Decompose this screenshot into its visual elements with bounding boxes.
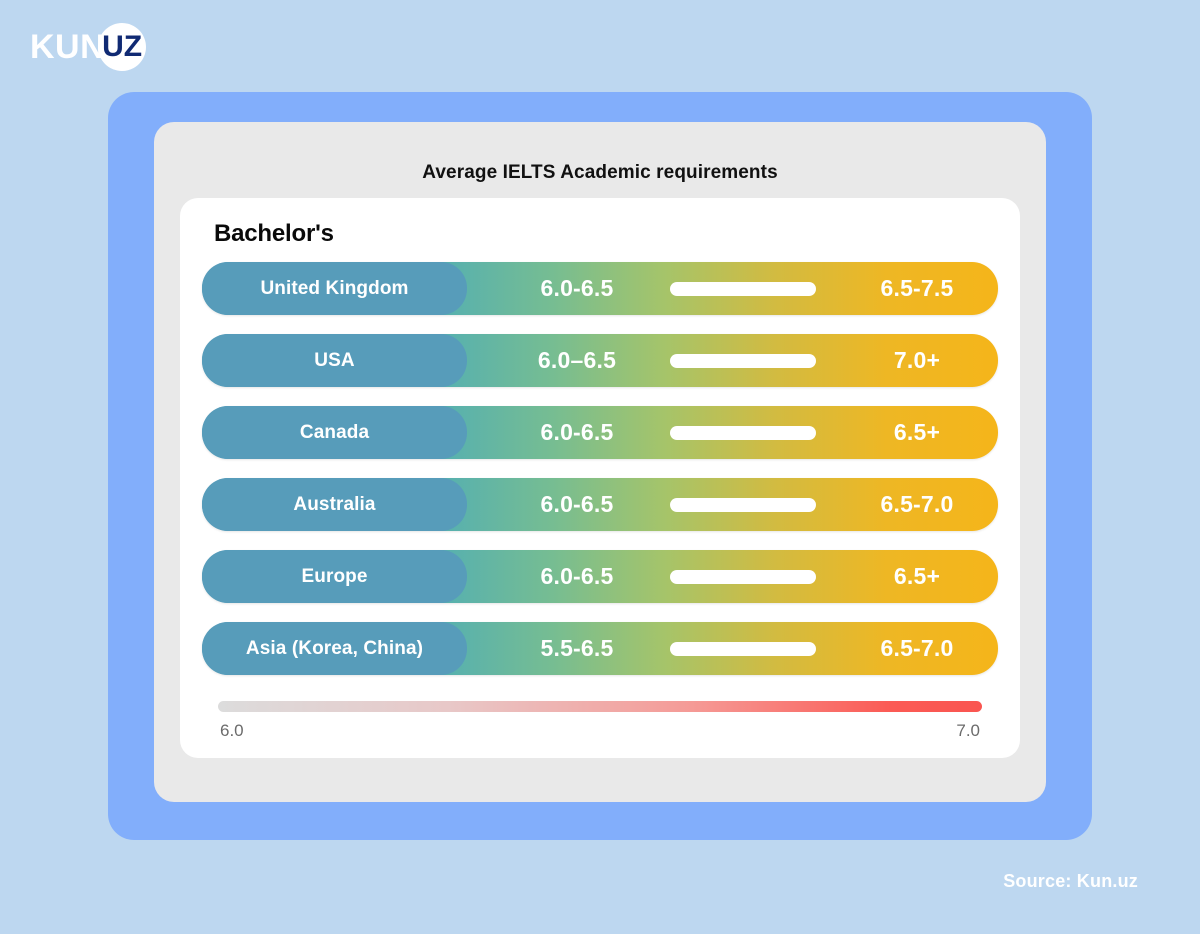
scale-max-label: 7.0 — [956, 721, 980, 741]
row-country-chip: USA — [202, 334, 467, 387]
kun-uz-logo: KUN. UZ — [30, 22, 146, 72]
row-range-value: 5.5-6.5 — [492, 635, 662, 662]
section-label: Bachelor's — [214, 220, 998, 248]
row-country-label: Australia — [293, 494, 375, 516]
scale-legend: 6.0 7.0 — [202, 701, 998, 741]
row-progress-pill — [670, 282, 816, 296]
row-country-label: Europe — [301, 566, 367, 588]
chart-panel: Bachelor's United Kingdom 6.0-6.5 6.5-7.… — [180, 198, 1020, 758]
row-country-label: USA — [314, 350, 354, 372]
table-row[interactable]: Asia (Korea, China) 5.5-6.5 6.5-7.0 — [202, 622, 998, 675]
row-country-chip: Asia (Korea, China) — [202, 622, 467, 675]
table-row[interactable]: Europe 6.0-6.5 6.5+ — [202, 550, 998, 603]
row-target-value: 6.5-7.0 — [832, 491, 1002, 518]
logo-circle: UZ — [98, 23, 146, 71]
row-range-value: 6.0–6.5 — [492, 347, 662, 374]
row-progress-pill — [670, 570, 816, 584]
row-country-label: Asia (Korea, China) — [246, 638, 423, 660]
row-range-value: 6.0-6.5 — [492, 419, 662, 446]
infographic-frame: Average IELTS Academic requirements Bach… — [108, 92, 1092, 840]
row-country-label: Canada — [300, 422, 369, 444]
row-progress-pill — [670, 642, 816, 656]
table-row[interactable]: Australia 6.0-6.5 6.5-7.0 — [202, 478, 998, 531]
row-target-value: 7.0+ — [832, 347, 1002, 374]
row-country-chip: Australia — [202, 478, 467, 531]
row-progress-pill — [670, 354, 816, 368]
source-attribution: Source: Kun.uz — [1003, 871, 1138, 892]
requirements-list: United Kingdom 6.0-6.5 6.5-7.5 USA 6.0–6… — [202, 262, 998, 675]
page-title: Average IELTS Academic requirements — [154, 162, 1046, 184]
row-country-label: United Kingdom — [260, 278, 408, 300]
row-range-value: 6.0-6.5 — [492, 491, 662, 518]
logo-text-secondary: UZ — [102, 32, 142, 62]
scale-gradient-bar — [218, 701, 982, 712]
scale-min-label: 6.0 — [220, 721, 244, 741]
table-row[interactable]: USA 6.0–6.5 7.0+ — [202, 334, 998, 387]
row-country-chip: Europe — [202, 550, 467, 603]
table-row[interactable]: United Kingdom 6.0-6.5 6.5-7.5 — [202, 262, 998, 315]
infographic-card: Average IELTS Academic requirements Bach… — [154, 122, 1046, 802]
row-country-chip: Canada — [202, 406, 467, 459]
row-range-value: 6.0-6.5 — [492, 563, 662, 590]
row-target-value: 6.5+ — [832, 563, 1002, 590]
row-progress-pill — [670, 498, 816, 512]
row-range-value: 6.0-6.5 — [492, 275, 662, 302]
table-row[interactable]: Canada 6.0-6.5 6.5+ — [202, 406, 998, 459]
row-target-value: 6.5+ — [832, 419, 1002, 446]
row-progress-pill — [670, 426, 816, 440]
row-target-value: 6.5-7.0 — [832, 635, 1002, 662]
row-target-value: 6.5-7.5 — [832, 275, 1002, 302]
row-country-chip: United Kingdom — [202, 262, 467, 315]
scale-tick-labels: 6.0 7.0 — [218, 721, 982, 741]
